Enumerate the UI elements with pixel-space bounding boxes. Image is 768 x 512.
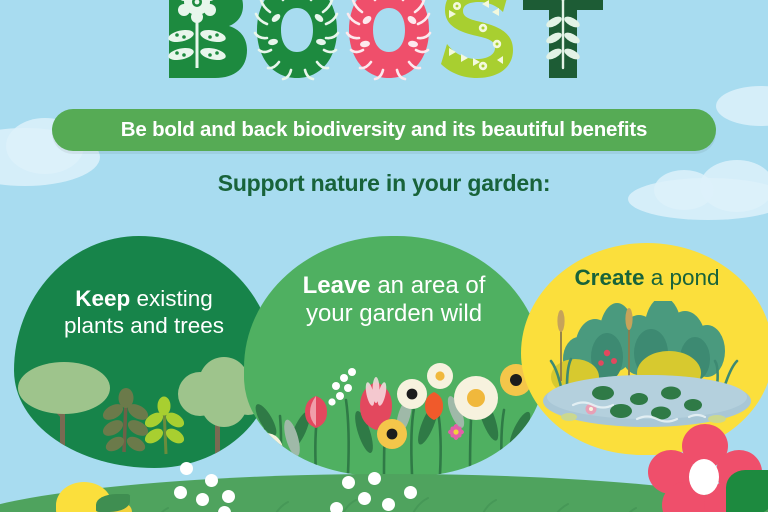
card-pond-emphasis: Create bbox=[574, 265, 644, 290]
cattail-left bbox=[557, 310, 564, 332]
card-leave-emphasis: Leave bbox=[303, 272, 371, 299]
daisy-dot bbox=[222, 490, 235, 503]
card-pond-text: Create a pond bbox=[521, 265, 768, 292]
card-leave-text: Leave an area of your garden wild bbox=[244, 272, 544, 329]
daisy-dot bbox=[330, 502, 343, 512]
poster-canvas: Be bold and back biodiversity and its be… bbox=[0, 0, 768, 512]
card-keep-text: Keep existing plants and trees bbox=[14, 286, 274, 339]
daisy-dot bbox=[382, 498, 395, 511]
tagline-banner: Be bold and back biodiversity and its be… bbox=[52, 109, 716, 151]
title-letter-s bbox=[437, 0, 517, 86]
daisy-dot bbox=[218, 506, 231, 512]
daisy-dot bbox=[205, 474, 218, 487]
daisy-dot bbox=[358, 492, 371, 505]
card-leave[interactable]: Leave an area of your garden wild bbox=[244, 236, 544, 476]
cloud-top-right bbox=[716, 86, 768, 126]
title-letter-o-second bbox=[345, 0, 433, 86]
daisy-dot bbox=[180, 462, 193, 475]
page-subtitle: Support nature in your garden: bbox=[0, 170, 768, 197]
daisy-dot bbox=[342, 476, 355, 489]
card-pond-rest: a pond bbox=[644, 265, 719, 290]
flower-anemone-white bbox=[397, 379, 427, 409]
daisy-dot bbox=[404, 486, 417, 499]
poster-title bbox=[0, 0, 768, 82]
daisy-dot bbox=[196, 493, 209, 506]
title-letter-b bbox=[163, 0, 249, 86]
tagline-text: Be bold and back biodiversity and its be… bbox=[121, 118, 647, 142]
pond-illustration bbox=[521, 301, 768, 441]
card-leave-rest: an area of bbox=[371, 272, 486, 299]
daisy-dot bbox=[174, 486, 187, 499]
flower-cream-left bbox=[249, 433, 283, 467]
trees-and-shrubs-illustration bbox=[14, 354, 274, 468]
cattail-right bbox=[625, 308, 632, 330]
flower-daisy-yellow bbox=[377, 419, 407, 449]
card-keep-rest: existing bbox=[130, 286, 213, 311]
flower-anemone-cream-upper bbox=[427, 363, 453, 389]
flower-peony-cream bbox=[454, 376, 498, 420]
flower-stem-leaf bbox=[726, 470, 768, 512]
wildflower-meadow-illustration bbox=[244, 346, 544, 476]
flower-lily-of-valley bbox=[328, 368, 356, 406]
title-letter-t bbox=[521, 0, 605, 86]
card-keep-line2: plants and trees bbox=[64, 313, 224, 338]
card-keep-emphasis: Keep bbox=[75, 286, 130, 311]
daisy-dot bbox=[368, 472, 381, 485]
card-leave-line2: your garden wild bbox=[306, 300, 482, 327]
flower-center bbox=[689, 459, 719, 495]
title-letter-o-first bbox=[253, 0, 341, 86]
